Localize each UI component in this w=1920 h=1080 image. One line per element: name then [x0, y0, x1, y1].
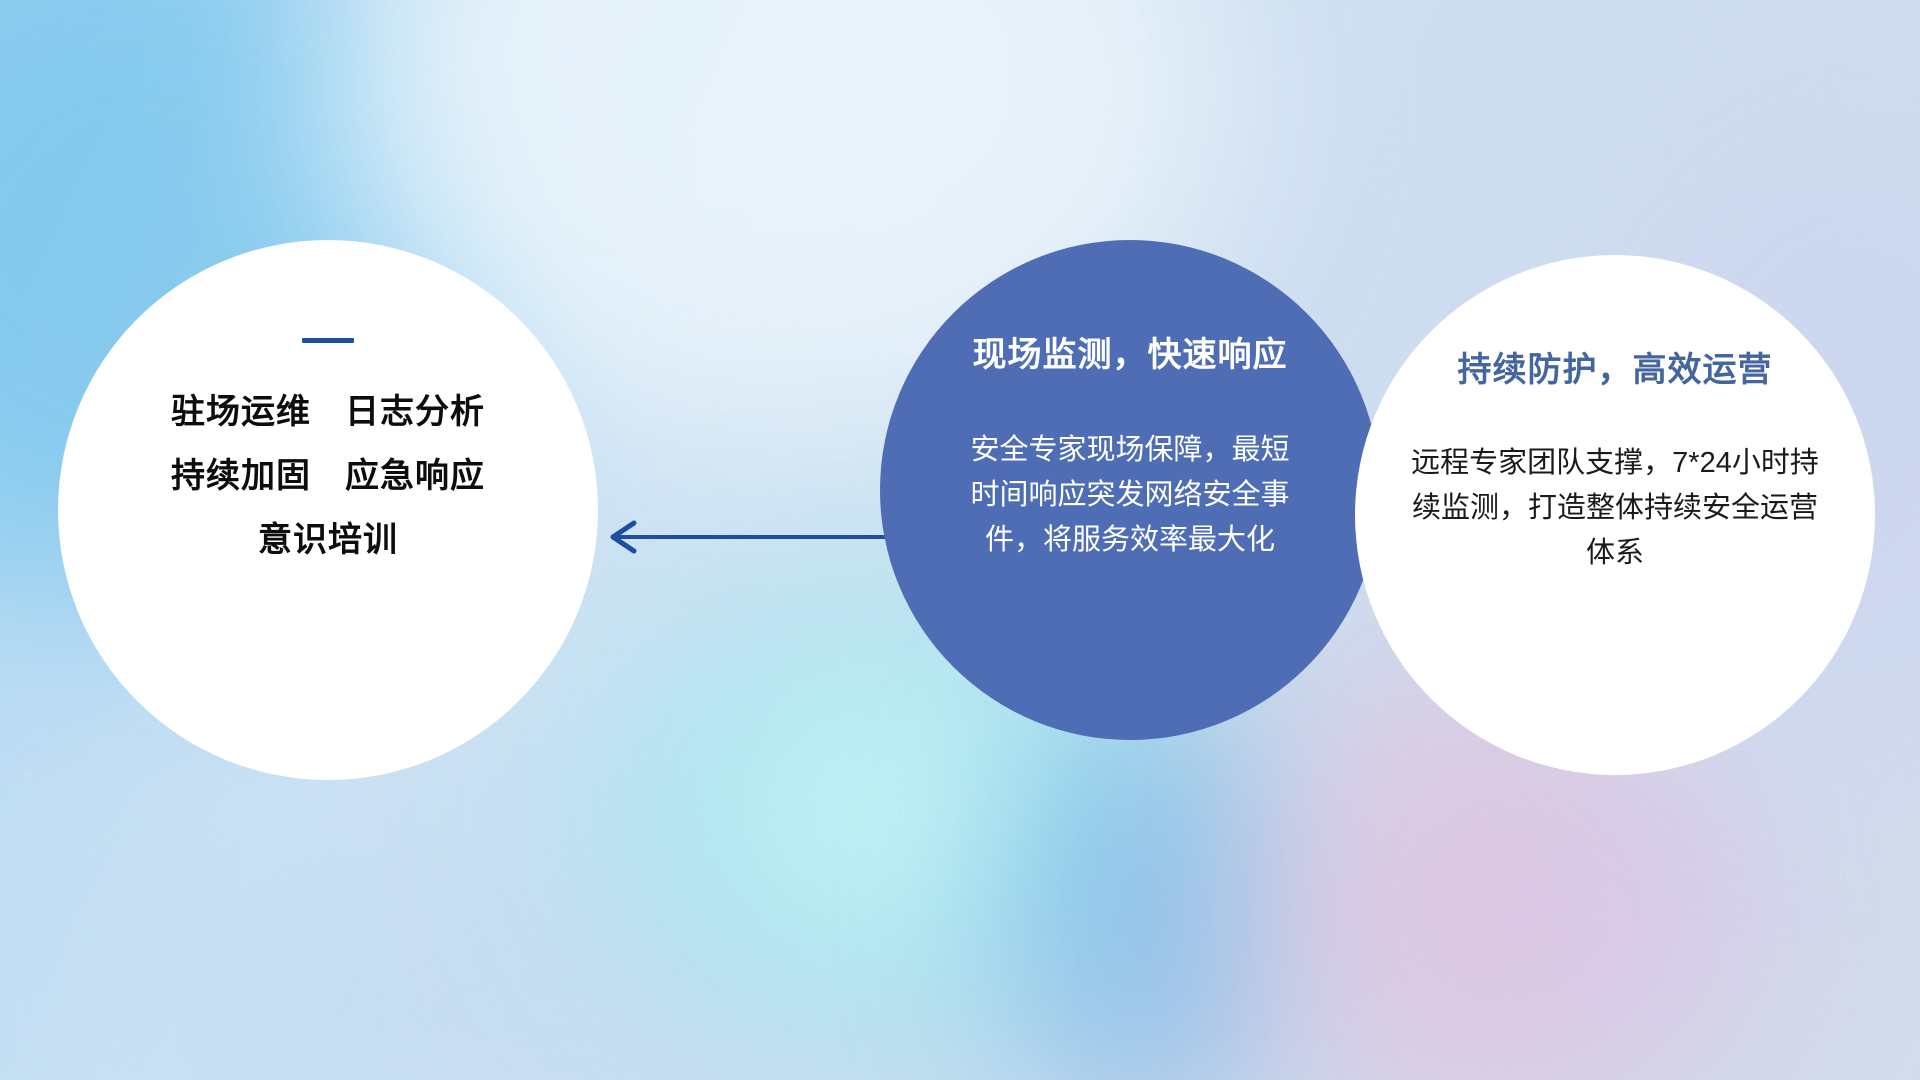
capability-item: 应急响应 [345, 459, 485, 493]
capability-row: 驻场运维 日志分析 [171, 395, 485, 429]
slide-canvas: 驻场运维 日志分析 持续加固 应急响应 意识培训 现场监测，快速响应 安全专家现… [0, 0, 1920, 1080]
continuous-protection-body: 远程专家团队支撑，7*24小时持续监测，打造整体持续安全运营体系 [1405, 441, 1825, 576]
capability-item: 持续加固 [171, 459, 311, 493]
flow-arrow-icon [600, 516, 890, 558]
capability-list: 驻场运维 日志分析 持续加固 应急响应 意识培训 [171, 395, 485, 557]
onsite-monitoring-circle[interactable]: 现场监测，快速响应 安全专家现场保障，最短时间响应突发网络安全事件，将服务效率最… [880, 240, 1380, 740]
flow-arrow [600, 516, 890, 558]
continuous-protection-title: 持续防护，高效运营 [1458, 353, 1773, 387]
continuous-protection-circle[interactable]: 持续防护，高效运营 远程专家团队支撑，7*24小时持续监测，打造整体持续安全运营… [1355, 255, 1875, 775]
onsite-monitoring-body: 安全专家现场保障，最短时间响应突发网络安全事件，将服务效率最大化 [965, 428, 1295, 563]
onsite-monitoring-title: 现场监测，快速响应 [973, 338, 1288, 372]
left-capability-circle[interactable]: 驻场运维 日志分析 持续加固 应急响应 意识培训 [58, 240, 598, 780]
capability-item: 驻场运维 [171, 395, 311, 429]
capability-item: 意识培训 [258, 523, 398, 557]
capability-item: 日志分析 [345, 395, 485, 429]
capability-row: 持续加固 应急响应 [171, 459, 485, 493]
capability-row: 意识培训 [258, 523, 398, 557]
divider-dash-icon [302, 338, 354, 343]
